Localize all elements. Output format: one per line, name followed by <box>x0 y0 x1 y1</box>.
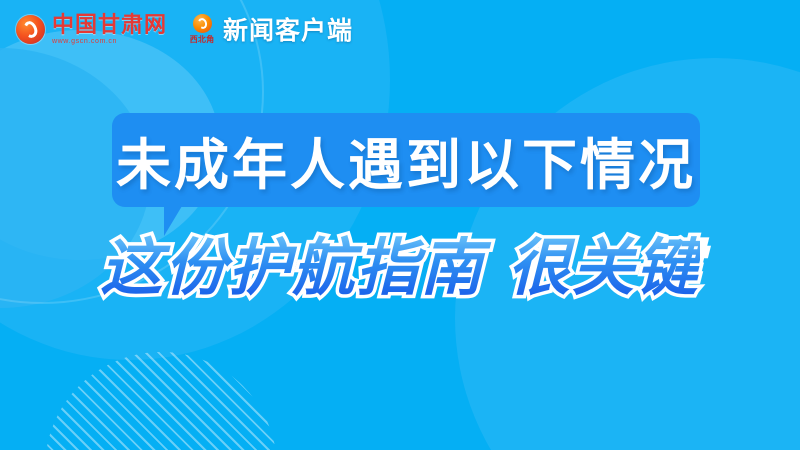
speech-bubble: 未成年人遇到以下情况 <box>112 113 700 207</box>
site-logo-name: 中国甘肃网 <box>52 14 167 36</box>
headline-line-2: 这份护航指南 很关键 这份护航指南 很关键 <box>100 237 700 299</box>
headline-line-1: 未成年人遇到以下情况 <box>112 113 700 207</box>
app-badge: 西北角 <box>187 14 217 45</box>
app-name-label: 新闻客户端 <box>223 11 353 47</box>
site-logo-text: 中国甘肃网 www.gscn.com.cn <box>52 14 167 45</box>
headline-line-2-fill: 这份护航指南 很关键 <box>100 231 700 304</box>
site-logo[interactable]: 中国甘肃网 www.gscn.com.cn <box>16 14 167 45</box>
diagonal-striped-circle-shape <box>45 352 277 450</box>
app-badge-label: 西北角 <box>190 34 215 45</box>
poster-canvas: 中国甘肃网 www.gscn.com.cn 西北角 新闻客户端 未成年人遇到以下… <box>0 0 800 450</box>
headline-line-2-container: 这份护航指南 很关键 这份护航指南 很关键 <box>0 222 800 314</box>
flame-circle-icon <box>193 14 212 33</box>
header-logo-bar: 中国甘肃网 www.gscn.com.cn 西北角 新闻客户端 <box>0 0 800 58</box>
app-logo[interactable]: 西北角 新闻客户端 <box>187 11 353 47</box>
site-logo-url: www.gscn.com.cn <box>52 38 167 45</box>
flame-circle-icon <box>16 15 45 44</box>
